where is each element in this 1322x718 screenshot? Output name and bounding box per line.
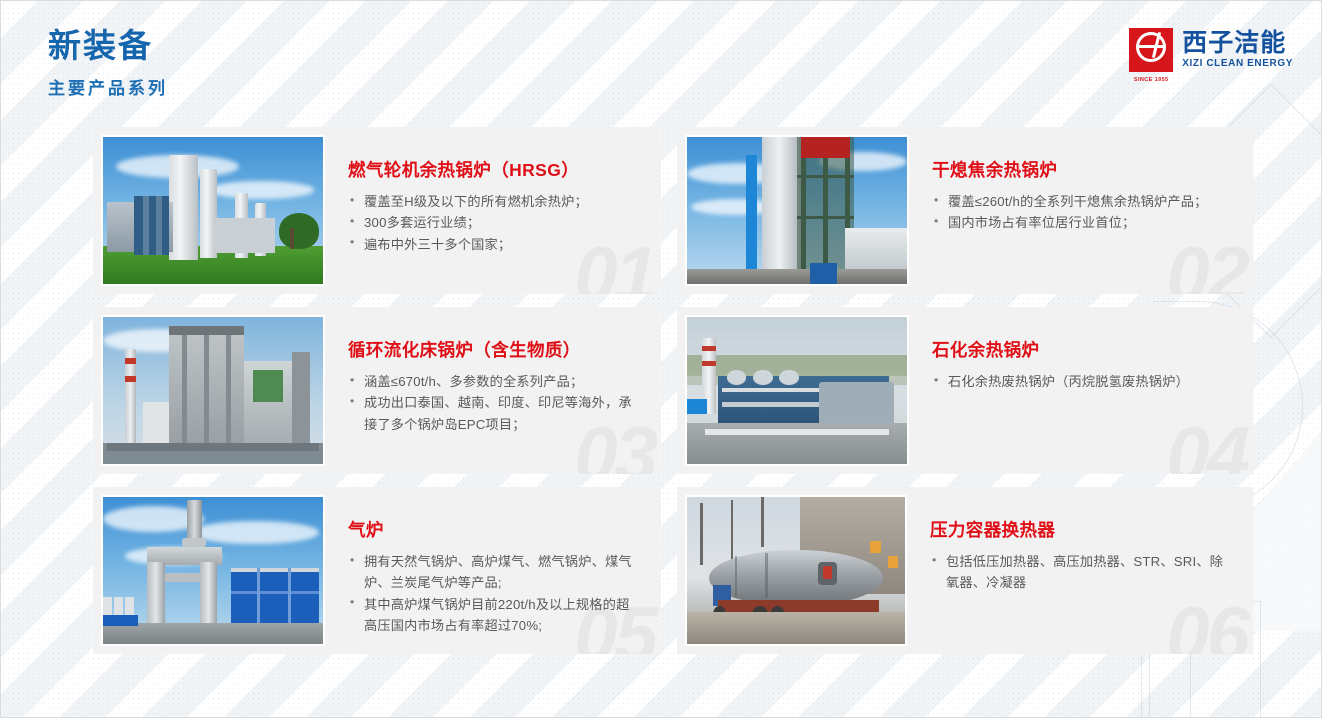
bullet-item: 覆盖≤260t/h的全系列干熄焦余热锅炉产品； [932,191,1208,212]
bullet-item: 石化余热废热锅炉（丙烷脱氢废热锅炉） [932,371,1189,392]
card-title: 循环流化床锅炉（含生物质） [348,337,637,362]
card-watermark-number: 02 [1166,229,1247,294]
card-content-04: 石化余热锅炉 石化余热废热锅炉（丙烷脱氢废热锅炉） [909,315,1205,392]
card-bullet-list: 覆盖≤260t/h的全系列干熄焦余热锅炉产品； 国内市场占有率位居行业首位； [932,191,1208,234]
slide-header: 新装备 主要产品系列 [48,27,168,99]
card-bullet-list: 涵盖≤670t/h、多参数的全系列产品； 成功出口泰国、越南、印度、印尼等海外，… [348,371,637,435]
bullet-item: 覆盖至H级及以下的所有燃机余热炉； [348,191,588,212]
bullet-item: 其中高炉煤气锅炉目前220t/h及以上规格的超高压国内市场占有率超过70%; [348,594,637,637]
product-thumbnail-02 [685,135,909,286]
logo-name-cn: 西子洁能 [1182,31,1293,56]
bullet-item: 国内市场占有率位居行业首位； [932,212,1208,233]
bullet-item: 成功出口泰国、越南、印度、印尼等海外，承接了多个锅炉岛EPC项目； [348,392,637,435]
card-content-02: 干熄焦余热锅炉 覆盖≤260t/h的全系列干熄焦余热锅炉产品； 国内市场占有率位… [909,135,1224,234]
card-content-05: 气炉 拥有天然气锅炉、高炉煤气、燃气锅炉、煤气炉、兰炭尾气炉等产品; 其中高炉煤… [325,495,653,637]
card-title: 干熄焦余热锅炉 [932,157,1208,182]
product-card-06[interactable]: 06 压力容器换热 [677,487,1253,654]
logo-bar-shape [1139,45,1164,48]
card-content-06: 压力容器换热器 包括低压加热器、高压加热器、STR、SRI、除氧器、冷凝器 [907,495,1245,594]
card-title: 石化余热锅炉 [932,337,1189,362]
card-watermark-number: 04 [1166,409,1247,474]
bullet-item: 包括低压加热器、高压加热器、STR、SRI、除氧器、冷凝器 [930,551,1229,594]
bullet-item: 遍布中外三十多个国家； [348,234,588,255]
card-title: 压力容器换热器 [930,517,1229,542]
card-bullet-list: 拥有天然气锅炉、高炉煤气、燃气锅炉、煤气炉、兰炭尾气炉等产品; 其中高炉煤气锅炉… [348,551,637,637]
card-title: 气炉 [348,517,637,542]
product-thumbnail-01 [101,135,325,286]
product-card-03[interactable]: 03 循环流化床锅炉（含生物质） [93,307,661,474]
card-bullet-list: 包括低压加热器、高压加热器、STR、SRI、除氧器、冷凝器 [930,551,1229,594]
product-thumbnail-05 [101,495,325,646]
product-card-grid: 01 燃气轮机余热锅炉（HRSG） [93,127,1253,654]
bullet-item: 涵盖≤670t/h、多参数的全系列产品； [348,371,637,392]
product-card-02[interactable]: 02 干熄焦余热锅炉 [677,127,1253,294]
page-title: 新装备 [48,27,168,65]
slide-root: 新装备 主要产品系列 SINCE 1955 西子洁能 XIZI CLEAN EN… [0,0,1322,718]
logo-wordmark: 西子洁能 XIZI CLEAN ENERGY [1182,31,1293,69]
product-card-04[interactable]: 04 石化余热锅炉 [677,307,1253,474]
bullet-item: 拥有天然气锅炉、高炉煤气、燃气锅炉、煤气炉、兰炭尾气炉等产品; [348,551,637,594]
logo-since-text: SINCE 1955 [1129,77,1173,83]
card-title: 燃气轮机余热锅炉（HRSG） [348,157,588,182]
company-logo: SINCE 1955 西子洁能 XIZI CLEAN ENERGY [1129,28,1293,72]
bullet-item: 300多套运行业绩； [348,212,588,233]
logo-name-en: XIZI CLEAN ENERGY [1182,59,1293,69]
product-card-01[interactable]: 01 燃气轮机余热锅炉（HRSG） [93,127,661,294]
card-bullet-list: 覆盖至H级及以下的所有燃机余热炉； 300多套运行业绩； 遍布中外三十多个国家； [348,191,588,255]
card-content-03: 循环流化床锅炉（含生物质） 涵盖≤670t/h、多参数的全系列产品； 成功出口泰… [325,315,653,435]
page-subtitle: 主要产品系列 [48,74,168,99]
card-bullet-list: 石化余热废热锅炉（丙烷脱氢废热锅炉） [932,371,1189,392]
product-thumbnail-03 [101,315,325,466]
xizi-e-mark-icon: SINCE 1955 [1129,28,1173,72]
card-watermark-number: 06 [1166,589,1247,654]
product-thumbnail-04 [685,315,909,466]
card-content-01: 燃气轮机余热锅炉（HRSG） 覆盖至H级及以下的所有燃机余热炉； 300多套运行… [325,135,604,255]
product-thumbnail-06 [685,495,907,646]
product-card-05[interactable]: 05 [93,487,661,654]
